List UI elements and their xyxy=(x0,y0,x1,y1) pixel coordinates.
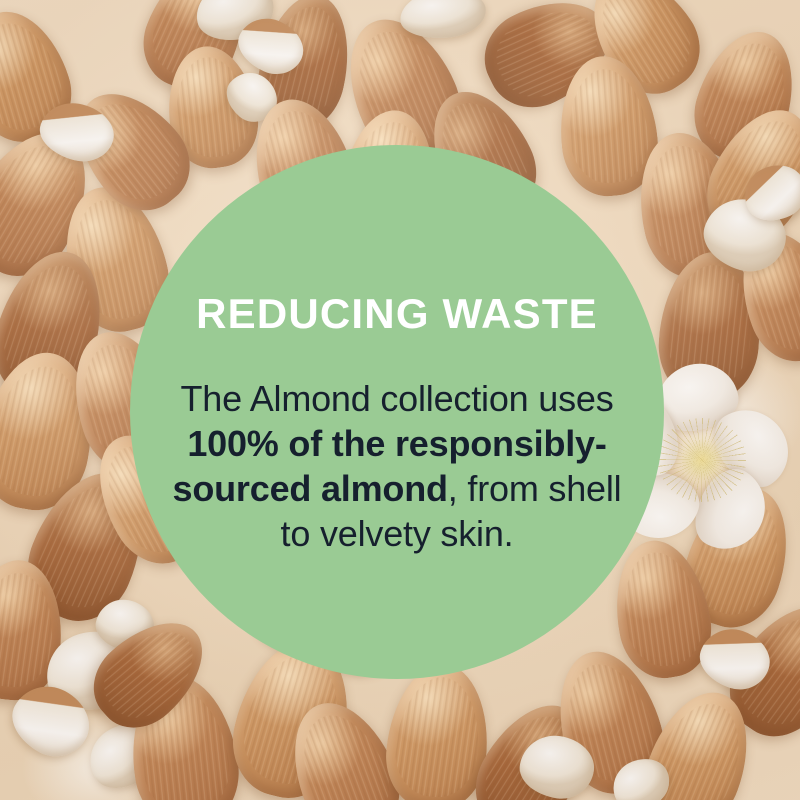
social-graphic-canvas: REDUCING WASTE The Almond collection use… xyxy=(0,0,800,800)
body-line-4: to velvety skin. xyxy=(281,513,514,554)
callout-body: The Almond collection uses 100% of the r… xyxy=(168,376,626,556)
body-line-3: , from shell xyxy=(448,468,622,509)
body-line-2-bold: 100% of the responsibly- xyxy=(187,423,606,464)
callout-headline: REDUCING WASTE xyxy=(196,293,598,335)
body-line-1: The Almond collection uses xyxy=(180,378,613,419)
blossom-stamen xyxy=(672,432,732,488)
body-line-3-bold: sourced almond xyxy=(173,468,448,509)
green-circle-callout: REDUCING WASTE The Almond collection use… xyxy=(130,145,664,679)
